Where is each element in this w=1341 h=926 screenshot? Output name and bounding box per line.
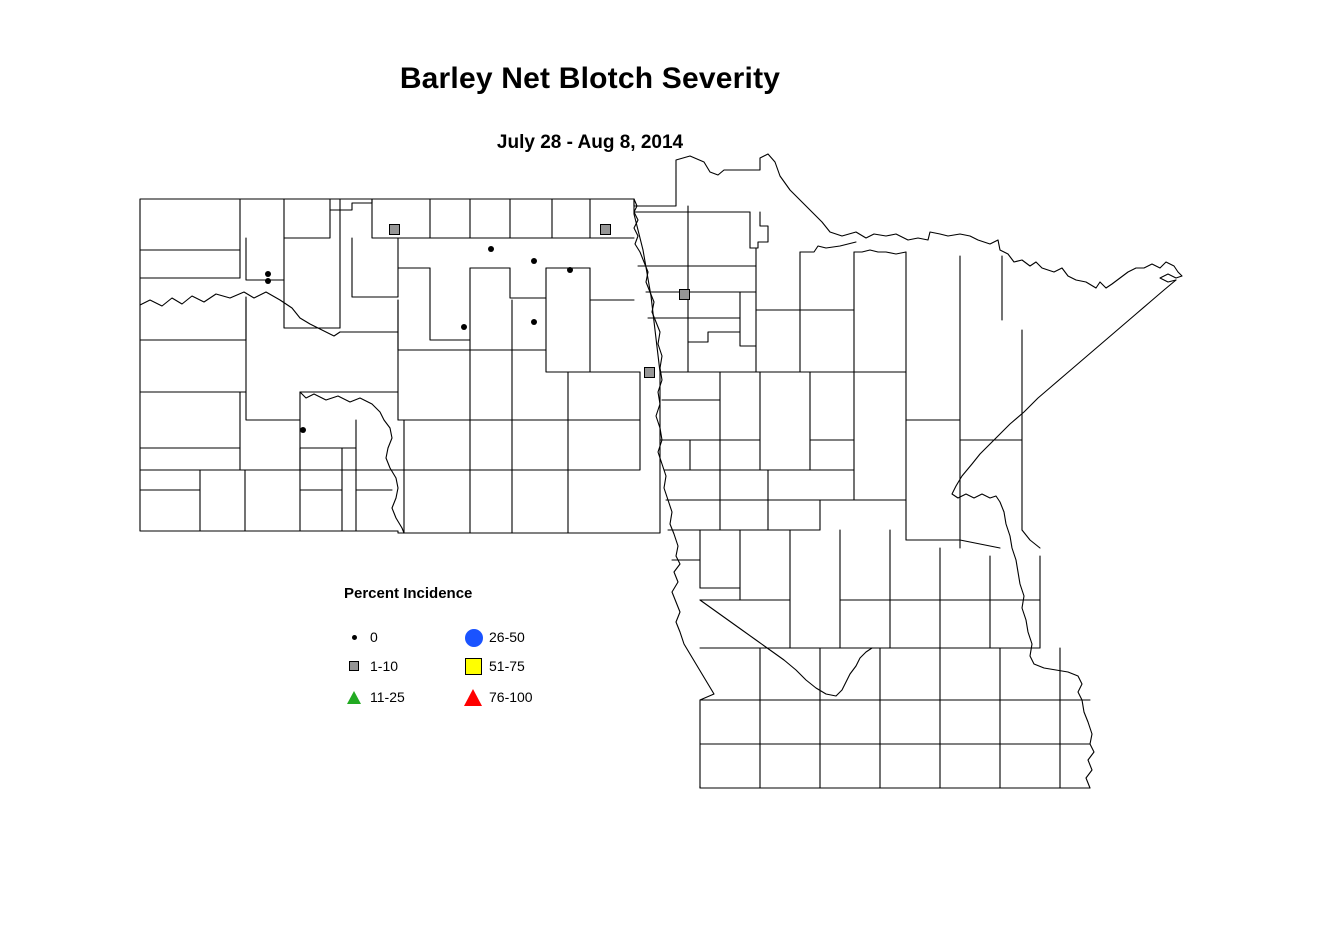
data-point-marker <box>567 267 573 273</box>
north-dakota-counties <box>140 199 660 533</box>
legend-item-label: 0 <box>370 629 378 645</box>
data-point-marker <box>679 289 690 300</box>
yellow-square-icon <box>463 655 485 677</box>
red-river-border <box>634 199 678 556</box>
data-point-marker <box>461 324 467 330</box>
legend-item-label: 11-25 <box>370 689 405 705</box>
data-point-marker <box>389 224 400 235</box>
red-triangle-icon <box>463 686 485 708</box>
data-point-marker <box>531 258 537 264</box>
data-point-marker <box>600 224 611 235</box>
minnesota-counties <box>634 154 1182 788</box>
green-triangle-icon <box>344 686 366 708</box>
data-point-marker <box>488 246 494 252</box>
state-county-map <box>0 0 1341 926</box>
data-point-marker <box>265 278 271 284</box>
black-dot-icon <box>344 626 366 648</box>
legend: Percent Incidence 0 1-10 11-25 26-50 51-… <box>344 585 574 715</box>
data-point-marker <box>265 271 271 277</box>
data-point-marker <box>644 367 655 378</box>
data-point-marker <box>300 427 306 433</box>
gray-square-icon <box>344 655 366 677</box>
legend-item-label: 51-75 <box>489 658 525 674</box>
legend-item-label: 76-100 <box>489 689 533 705</box>
map-figure: Barley Net Blotch Severity July 28 - Aug… <box>0 0 1341 926</box>
map-canvas: Percent Incidence 0 1-10 11-25 26-50 51-… <box>0 0 1341 926</box>
legend-title: Percent Incidence <box>344 585 472 602</box>
legend-item-label: 1-10 <box>370 658 398 674</box>
data-point-marker <box>531 319 537 325</box>
blue-circle-icon <box>463 626 485 648</box>
legend-item-label: 26-50 <box>489 629 525 645</box>
